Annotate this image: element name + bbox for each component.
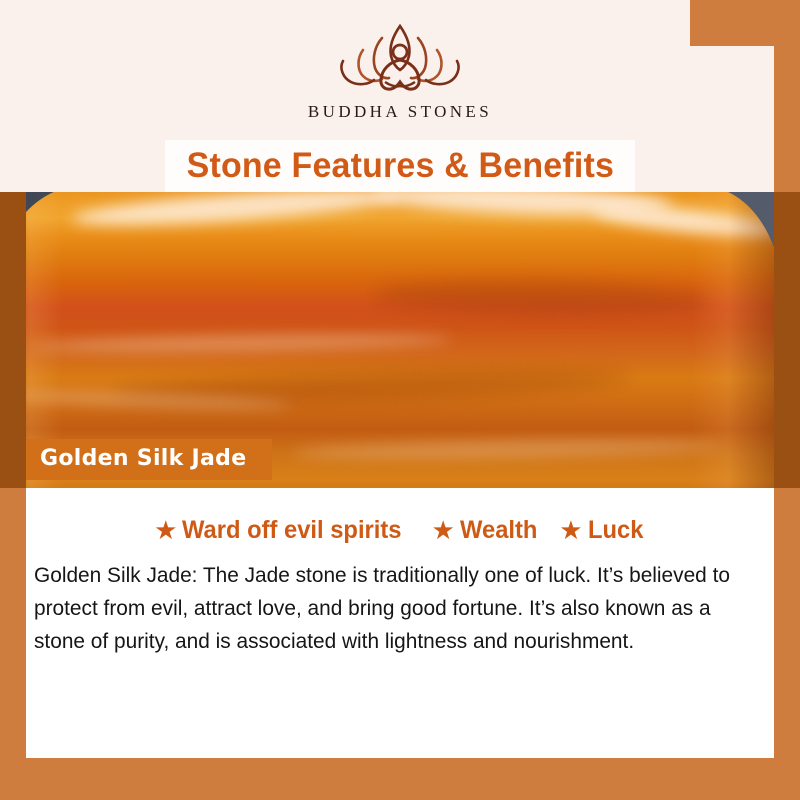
benefit-item-ward-off-evil-spirits: ★ Ward off evil spirits xyxy=(154,516,413,545)
stone-description: Golden Silk Jade: The Jade stone is trad… xyxy=(34,559,744,658)
stone-name-badge: Golden Silk Jade xyxy=(22,439,272,480)
frame-accent-left-over-photo xyxy=(0,192,26,488)
benefit-item-luck: ★ Luck xyxy=(559,516,646,545)
frame-accent-right-over-photo xyxy=(774,192,800,488)
title-banner: Stone Features & Benefits xyxy=(165,140,635,192)
benefits-list: ★ Ward off evil spirits ★ Wealth ★ Luck xyxy=(0,516,800,545)
stone-info-poster: BUDDHA STONES Stone Features & Benefits … xyxy=(0,0,800,800)
stone-name-text: Golden Silk Jade xyxy=(40,446,246,471)
poster-header: BUDDHA STONES Stone Features & Benefits xyxy=(0,0,800,192)
benefit-item-wealth: ★ Wealth xyxy=(431,516,541,545)
lotus-meditation-icon xyxy=(325,16,475,98)
brand-logo: BUDDHA STONES xyxy=(0,16,800,122)
stone-photo: Golden Silk Jade xyxy=(0,192,800,488)
page-title: Stone Features & Benefits xyxy=(186,146,613,186)
frame-accent-bottom xyxy=(0,758,800,800)
benefit-label: Luck xyxy=(588,516,643,545)
brand-name: BUDDHA STONES xyxy=(0,102,800,122)
poster-content: ★ Ward off evil spirits ★ Wealth ★ Luck … xyxy=(0,488,800,758)
benefit-label: Ward off evil spirits xyxy=(182,516,402,545)
stone-right-shading xyxy=(692,192,782,488)
star-icon: ★ xyxy=(559,517,582,543)
star-icon: ★ xyxy=(154,517,177,543)
star-icon: ★ xyxy=(431,517,454,543)
benefit-label: Wealth xyxy=(460,516,537,545)
